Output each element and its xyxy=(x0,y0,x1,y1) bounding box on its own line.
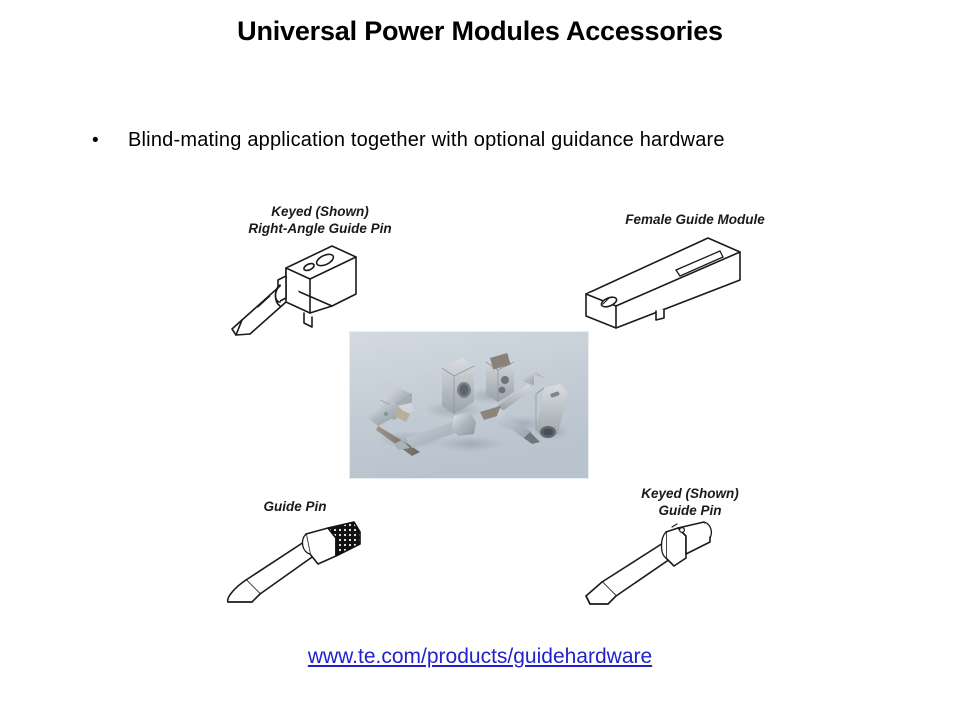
product-photo-image xyxy=(350,332,588,478)
caption-right-angle-guide-pin: Keyed (Shown) Right-Angle Guide Pin xyxy=(200,203,440,237)
bullet-item-label: Blind-mating application together with o… xyxy=(128,126,725,154)
figure-right-angle-guide-pin xyxy=(228,240,364,340)
slide-canvas: Universal Power Modules Accessories • Bl… xyxy=(0,0,960,720)
right-angle-guide-pin-drawing xyxy=(228,240,364,340)
product-photo xyxy=(350,332,588,478)
figure-keyed-guide-pin xyxy=(578,520,738,610)
caption-female-guide-module: Female Guide Module xyxy=(580,211,810,228)
figure-guide-pin xyxy=(218,518,378,608)
figure-female-guide-module xyxy=(576,232,748,334)
page-title: Universal Power Modules Accessories xyxy=(0,16,960,47)
caption-guide-pin: Guide Pin xyxy=(195,498,395,515)
bullet-marker-icon: • xyxy=(92,127,128,155)
bullet-list-item: • Blind-mating application together with… xyxy=(92,126,892,155)
female-guide-module-drawing xyxy=(576,232,748,334)
caption-keyed-guide-pin: Keyed (Shown) Guide Pin xyxy=(580,485,800,519)
keyed-guide-pin-drawing xyxy=(578,520,738,610)
guide-pin-drawing xyxy=(218,518,378,608)
product-link[interactable]: www.te.com/products/guidehardware xyxy=(0,645,960,669)
